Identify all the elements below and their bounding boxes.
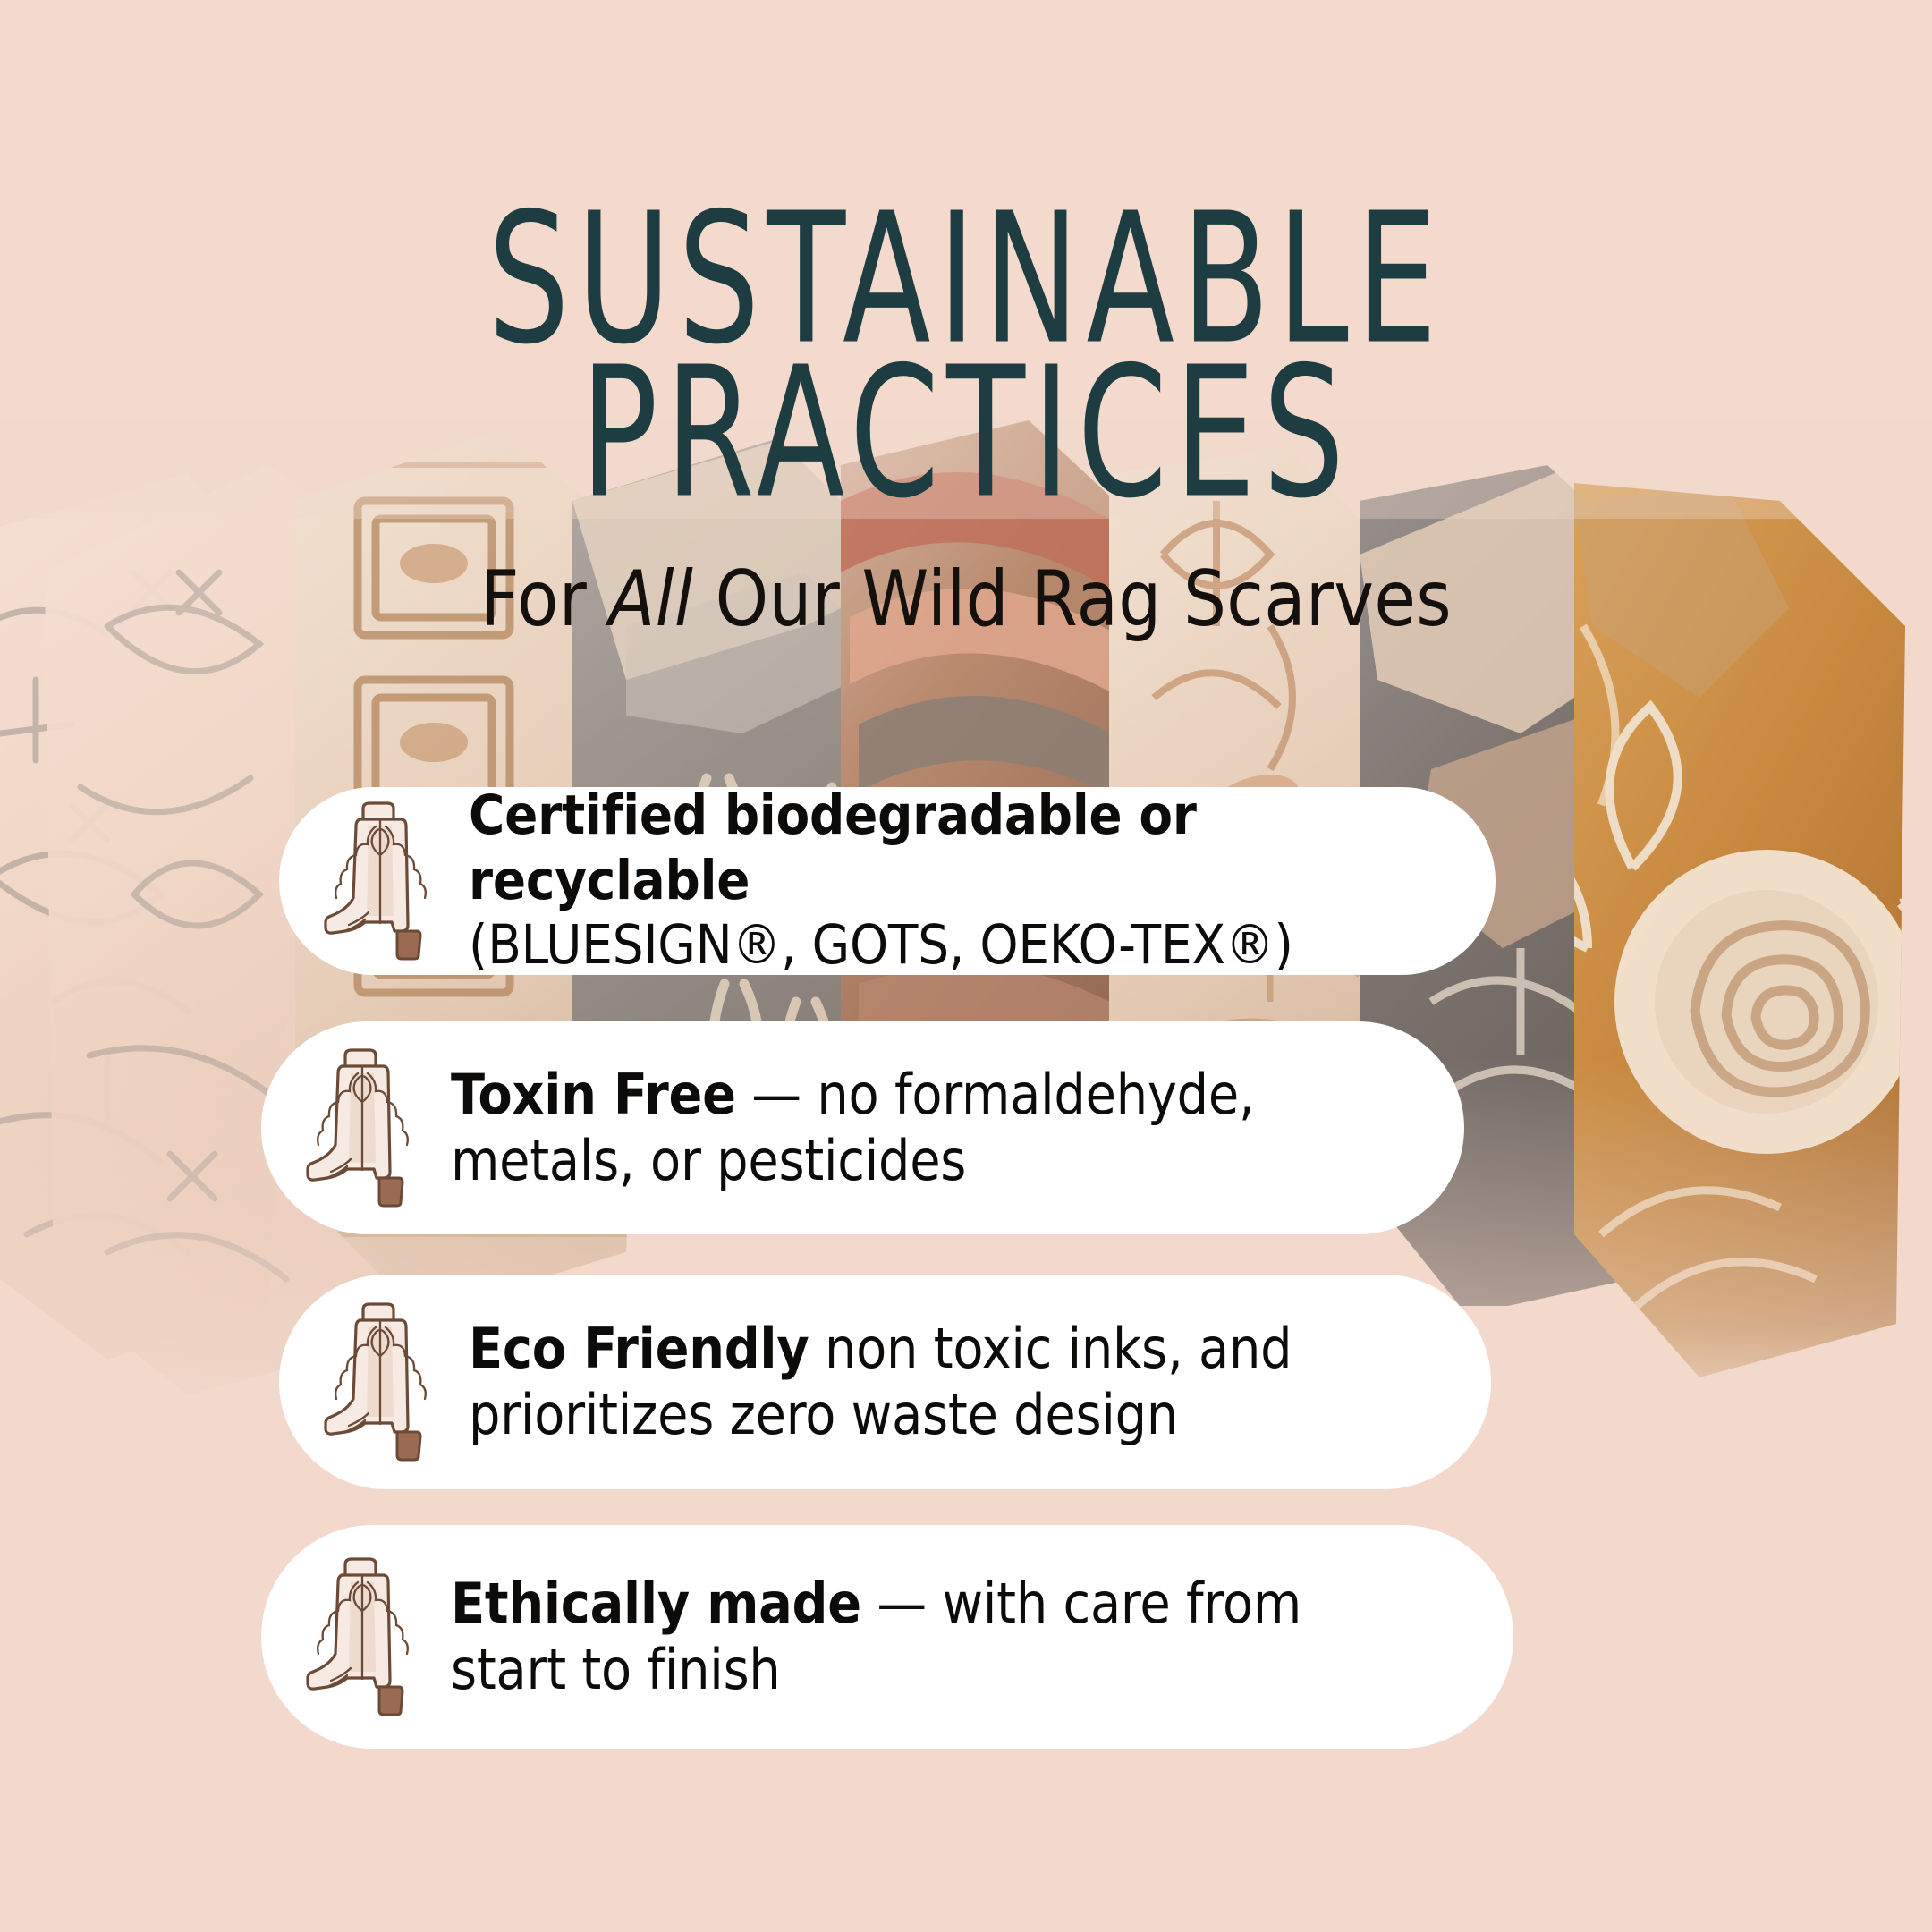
benefit-card-detail: (BLUESIGN®, GOTS, OEKO-TEX®) <box>469 913 1293 977</box>
page-subtitle: For All Our Wild Rag Scarves <box>116 555 1817 644</box>
page-title-text-2: PRACTICES <box>193 349 1739 518</box>
benefit-card-text: Certified biodegradable or recyclable (B… <box>469 784 1360 979</box>
benefit-card[interactable]: Ethically made — with care from start to… <box>261 1525 1513 1749</box>
subtitle-emphasis: All <box>609 555 694 644</box>
page-title-line-2: PRACTICES <box>0 349 1932 500</box>
cowboy-boot-icon <box>322 796 438 966</box>
benefit-card-title: Certified biodegradable or recyclable <box>469 784 1197 912</box>
subtitle-after: Our Wild Rag Scarves <box>693 555 1452 644</box>
benefit-card-title: Toxin Free <box>451 1062 736 1127</box>
benefit-card-text: Eco Friendly non toxic inks, and priorit… <box>469 1316 1357 1448</box>
benefit-card-title: Eco Friendly <box>469 1316 809 1381</box>
benefit-card-title: Ethically made <box>451 1571 861 1636</box>
cowboy-boot-icon <box>304 1552 420 1722</box>
benefit-card[interactable]: Certified biodegradable or recyclable (B… <box>279 787 1496 975</box>
benefit-card-text: Toxin Free — no formaldehyde, metals, or… <box>451 1062 1331 1194</box>
cowboy-boot-icon <box>304 1043 420 1213</box>
page-title-line-1: SUSTAINABLE <box>0 195 1932 346</box>
benefit-card[interactable]: Eco Friendly non toxic inks, and priorit… <box>279 1275 1491 1489</box>
benefit-card[interactable]: Toxin Free — no formaldehyde, metals, or… <box>261 1021 1464 1234</box>
subtitle-before: For <box>480 555 609 644</box>
cowboy-boot-icon <box>322 1297 438 1467</box>
benefit-card-text: Ethically made — with care from start to… <box>451 1571 1375 1703</box>
